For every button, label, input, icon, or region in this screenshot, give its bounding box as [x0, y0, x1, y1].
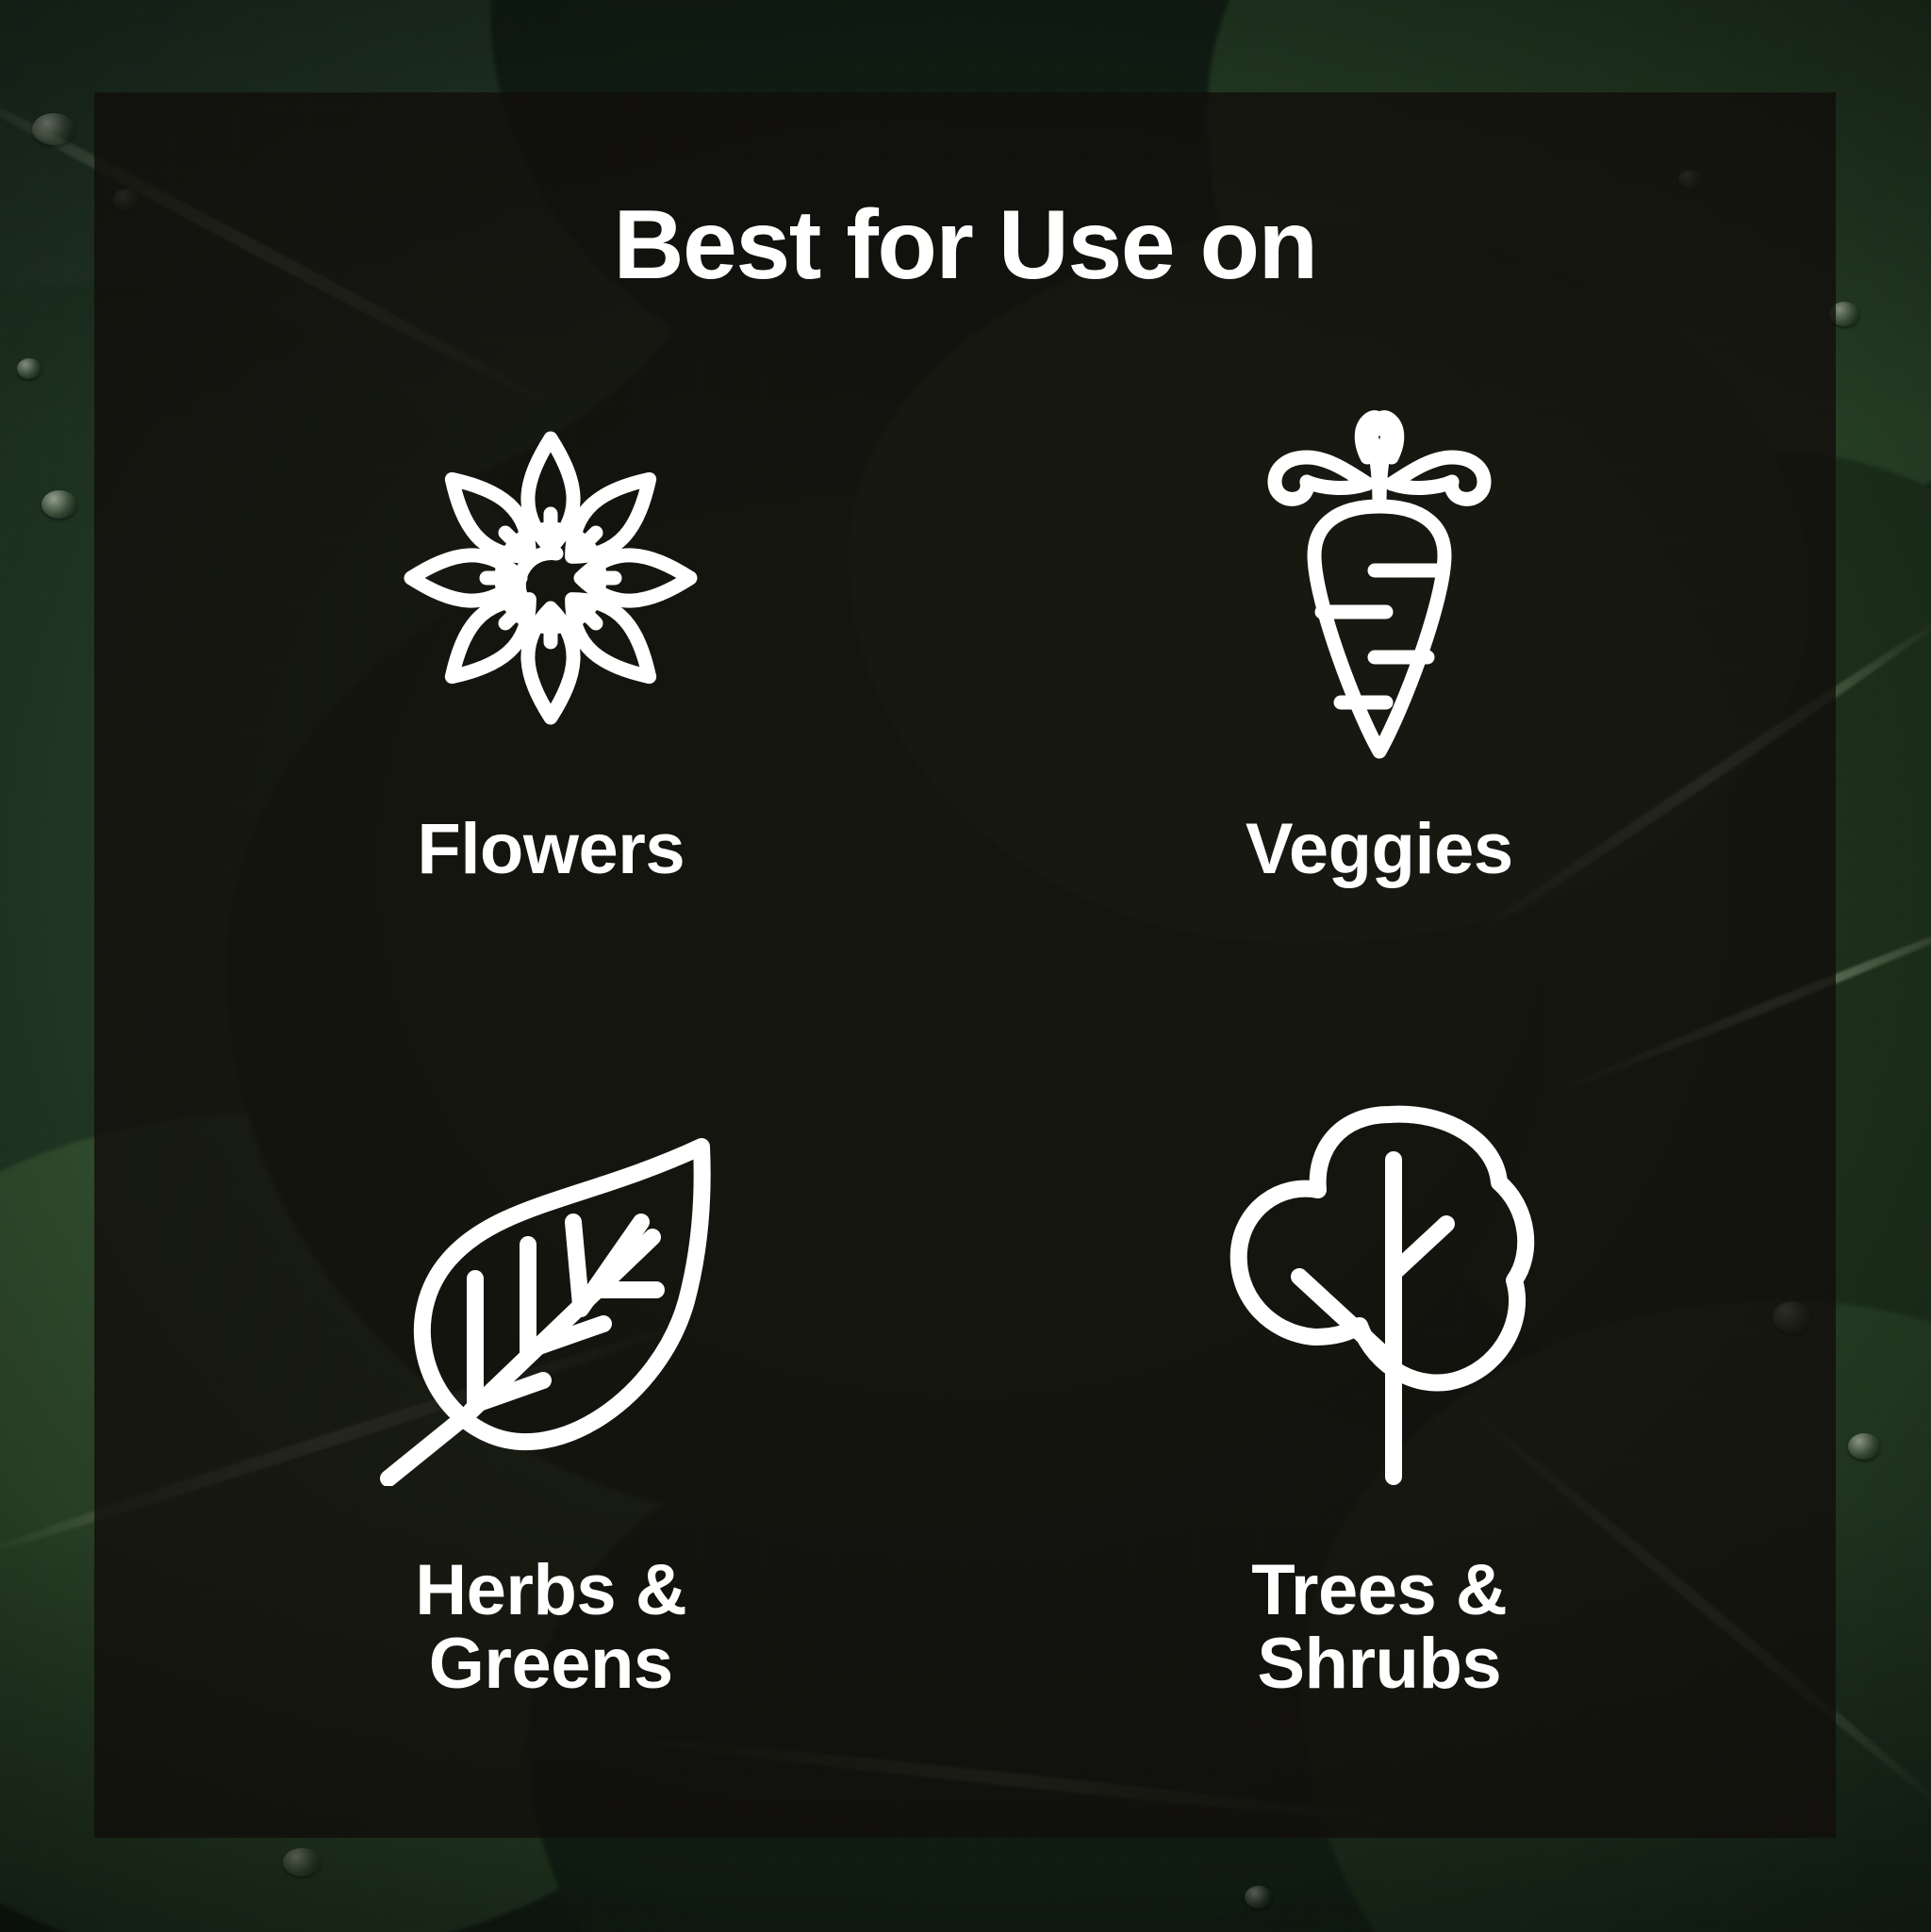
grid-item-flowers[interactable]: Flowers: [151, 375, 951, 1073]
grid-item-label-trees: Trees & Shrubs: [1251, 1554, 1507, 1700]
grid-item-herbs[interactable]: Herbs & Greens: [151, 1073, 951, 1771]
flower-icon: [151, 375, 951, 781]
grid-item-veggies[interactable]: Veggies: [980, 375, 1780, 1073]
usage-grid: Flowers: [151, 375, 1779, 1771]
grid-item-label-herbs: Herbs & Greens: [415, 1554, 686, 1700]
poster-canvas: Best for Use on: [0, 0, 1931, 1932]
carrot-icon: [980, 375, 1780, 781]
grid-item-trees[interactable]: Trees & Shrubs: [980, 1073, 1780, 1771]
page-title: Best for Use on: [94, 194, 1836, 297]
tree-icon: [980, 1090, 1780, 1505]
content-panel: Best for Use on: [94, 92, 1836, 1838]
grid-item-label-veggies: Veggies: [1246, 813, 1513, 886]
leaf-icon: [151, 1090, 951, 1505]
grid-item-label-flowers: Flowers: [417, 813, 685, 886]
